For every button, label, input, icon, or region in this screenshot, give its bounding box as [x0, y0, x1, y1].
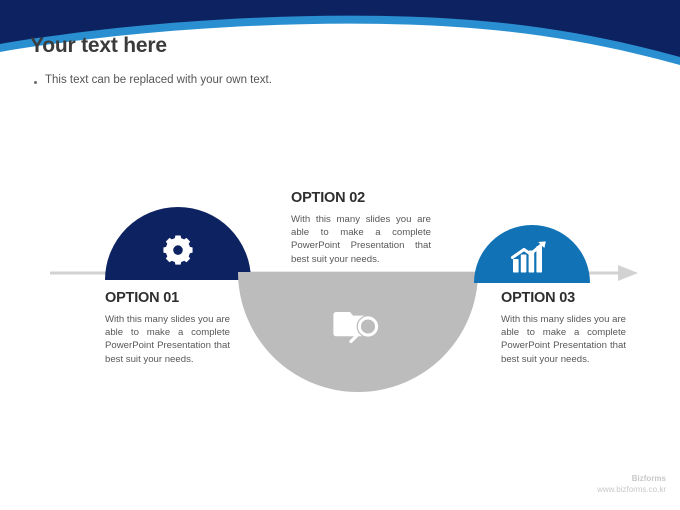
option-02-body: With this many slides you are able to ma… — [291, 213, 431, 266]
header-bullet-row: This text can be replaced with your own … — [34, 74, 272, 86]
option-02-shape[interactable] — [238, 272, 478, 392]
slide-canvas: Your text here This text can be replaced… — [0, 0, 680, 510]
option-03-heading: OPTION 03 — [501, 290, 626, 306]
option-01-text: OPTION 01 With this many slides you are … — [105, 290, 230, 366]
bullet-dot-icon — [34, 81, 37, 84]
option-02-text: OPTION 02 With this many slides you are … — [291, 190, 431, 266]
option-01-shape[interactable] — [105, 207, 251, 280]
footer-branding: Bizforms www.bizforms.co.kr — [597, 474, 666, 496]
option-02-heading: OPTION 02 — [291, 190, 431, 206]
option-01-heading: OPTION 01 — [105, 290, 230, 306]
header-bullet-text: This text can be replaced with your own … — [45, 74, 272, 86]
brand-url[interactable]: www.bizforms.co.kr — [597, 485, 666, 496]
option-01-body: With this many slides you are able to ma… — [105, 313, 230, 366]
page-title: Your text here — [30, 34, 167, 58]
option-03-shape[interactable] — [474, 225, 590, 283]
brand-name: Bizforms — [597, 474, 666, 485]
option-03-text: OPTION 03 With this many slides you are … — [501, 290, 626, 366]
option-03-body: With this many slides you are able to ma… — [501, 313, 626, 366]
